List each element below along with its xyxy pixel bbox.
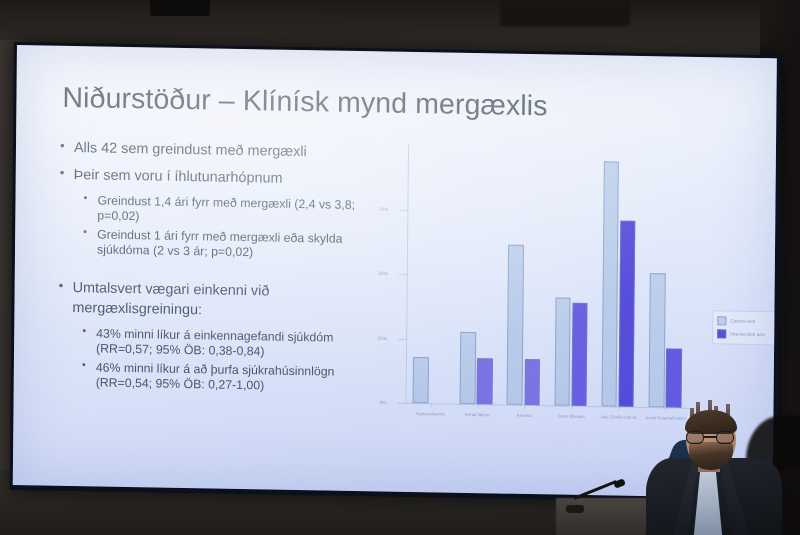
chart-y-tick-label: 75% [379,206,389,211]
chart-x-tick [619,407,620,411]
chart-x-tick [477,404,478,408]
chart-x-tick [430,403,431,407]
bar-chart: 0%25%50%75% HypercalcemiaRenal failureAn… [381,136,694,441]
ceiling-fixture-secondary [500,0,630,26]
slide-bullet-list: Alls 42 sem greindust með mergæxli Þeir … [58,138,390,399]
bullet-level2: 46% minni líkur á að þurfa sjúkrahúsinnl… [82,360,388,396]
chart-x-ticks [384,136,694,141]
bullet-level1: Umtalsvert vægari einkenni við mergæxlis… [58,278,388,325]
bullet-level2: Greindust 1,4 ári fyrr með mergæxli (2,4… [83,193,389,229]
chart-y-tick: 50% [399,274,407,275]
bullet-level1: Þeir sem voru í íhlutunarhópnum [60,165,390,191]
chart-x-label: Hypercalcemia [415,411,444,417]
chart-bar [460,332,476,405]
chart-bar [571,303,588,406]
presenter [628,398,800,535]
chart-bars [407,145,692,408]
chart-y-ticks: 0%25%50%75% [384,136,694,141]
chart-bar [554,297,571,406]
glasses-bridge [704,436,716,438]
chart-y-tick-label: 0% [380,400,387,405]
chart-y-tick-label: 50% [378,271,388,276]
screenshot-stage: Niðurstöður – Klínísk mynd mergæxlis All… [0,0,800,535]
chart-bar [507,245,524,405]
legend-label: Intervention arm [730,332,765,338]
chart-bar [601,161,619,406]
chart-legend: Control arm Intervention arm [712,310,777,345]
chart-y-tick: 25% [398,338,406,339]
legend-item: Intervention arm [717,327,777,341]
chart-bar [413,357,429,404]
chart-bar [648,273,665,407]
chart-x-label: Anemia [517,413,532,418]
chart-y-tick: 0% [398,403,406,404]
chart-x-label: Renal failure [465,412,490,417]
chart-bar [524,359,540,406]
chart-y-tick-label: 25% [378,335,388,340]
glasses-icon [686,431,736,444]
glasses-lens-right [716,431,734,444]
bullet-level1: Alls 42 sem greindust með mergæxli [60,138,390,164]
chart-x-label: Bone disease [558,414,585,419]
slide-title: Niðurstöður – Klínísk mynd mergæxlis [62,82,547,123]
legend-label: Control arm [730,319,755,324]
bullet-level2: Greindust 1 ári fyrr með mergæxli eða sk… [83,227,389,263]
legend-swatch-control [717,316,726,325]
chart-x-tick [524,405,525,409]
glasses-lens-left [686,431,704,444]
ceiling-fixture [150,0,210,16]
chart-x-labels: HypercalcemiaRenal failureAnemiaBone dis… [384,136,694,141]
bullet-level2: 43% minni líkur á einkennagefandi sjúkdó… [82,326,388,362]
chart-bar [618,221,635,407]
legend-item: Control arm [717,314,777,328]
chart-y-tick: 75% [399,209,407,210]
chart-x-tick [572,406,573,410]
microphone-base [566,505,584,513]
legend-swatch-intervention [717,329,726,338]
chart-bar [477,358,493,405]
